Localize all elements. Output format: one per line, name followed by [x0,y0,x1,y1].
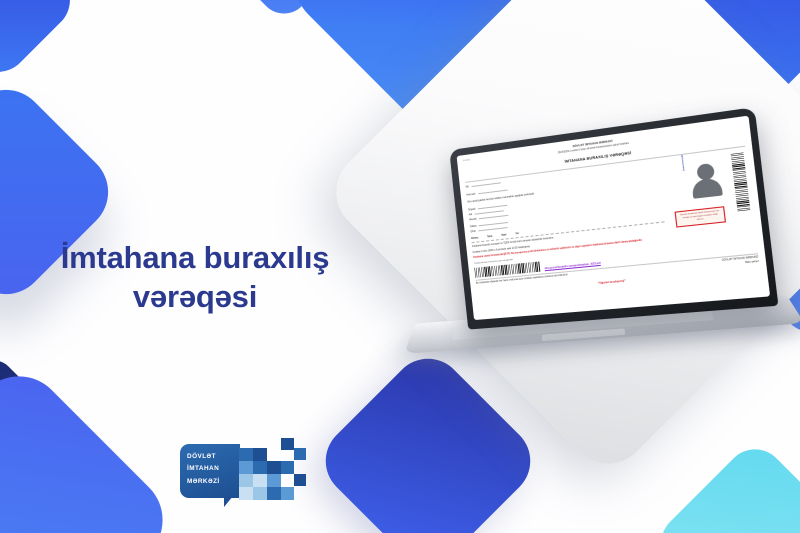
logo-line-1: DÖVLƏT [187,451,220,463]
laptop-device: D-2025 DÖVLƏT İMTAHAN MƏRKƏZİ 2024/2025-… [437,124,796,408]
column-header: Saat [501,233,506,237]
document-photo-column: Şəxsin fotoşəkli Şəxsin imtahana daxil o… [662,149,756,240]
admission-document: D-2025 DÖVLƏT İMTAHAN MƏRKƏZİ 2024/2025-… [457,116,771,320]
decorative-diamond-bottom-right [649,437,800,533]
photo-note-box: Şəxsin imtahana daxil olmaq üçün bu vərə… [675,206,726,227]
field-label: Soyadı [468,208,476,212]
logo-text-block: DÖVLƏT İMTAHAN MƏRKƏZİ [187,451,220,488]
id-value-line [471,183,500,188]
field-label: İxtisas [470,225,477,229]
photo-placeholder: Şəxsin fotoşəkli [683,155,729,203]
greeting-value-line [478,190,507,195]
logo-pixel-mosaic [239,438,301,504]
laptop-screen: D-2025 DÖVLƏT İMTAHAN MƏRKƏZİ 2024/2025-… [457,116,771,320]
field-value-line [478,227,508,231]
photo-label: Şəxsin fotoşəkli [681,155,686,172]
logo-line-2: İMTAHAN [187,463,220,475]
dim-logo: DÖVLƏT İMTAHAN MƏRKƏZİ [180,438,304,510]
field-label: Adı [469,213,473,216]
person-icon-body [691,177,723,199]
column-header: Bölmə [471,236,478,240]
footer-right-block: DÖVLƏT İMTAHAN MƏRKƏZİ Bakı şəhəri [722,257,759,268]
page-title: İmtahana buraxılış vərəqəsi [0,238,390,316]
field-label: Ata adı [469,217,477,221]
banner-stage: İmtahana buraxılış vərəqəsi DÖVLƏT İMTAH… [0,0,800,533]
id-label: İİN [466,186,469,189]
logo-bubble-tail [224,496,233,507]
field-label: Qrup [470,230,475,234]
greeting-label: Hörmətli [466,193,475,197]
decorative-diamond-top-left [0,0,83,85]
vertical-barcode [731,153,751,213]
column-header: Yer [515,232,519,236]
decorative-diamond-bottom-left [0,357,182,533]
logo-line-3: MƏRKƏZİ [187,476,220,488]
column-header: Tarix [487,235,493,239]
